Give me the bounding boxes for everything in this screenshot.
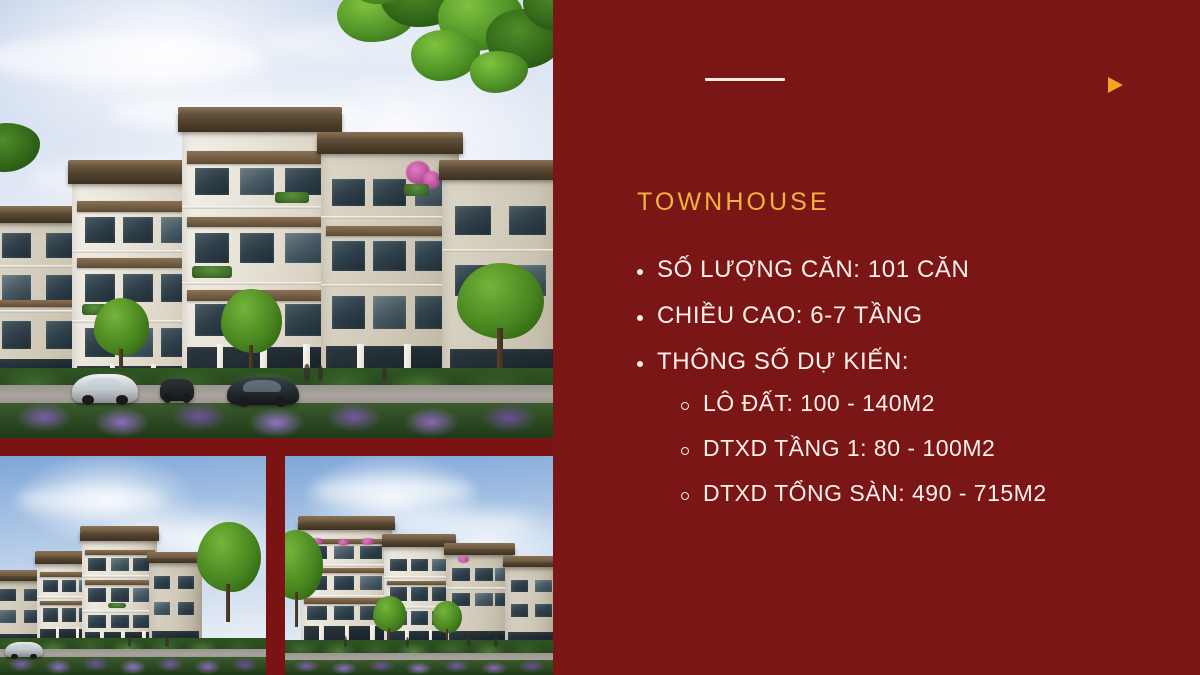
cloud xyxy=(16,487,165,513)
building-block-right xyxy=(321,149,459,399)
cloud xyxy=(312,478,473,504)
pedestrian xyxy=(304,364,310,382)
car xyxy=(5,642,42,657)
motorbike xyxy=(160,379,193,401)
gallery-gap-vertical xyxy=(266,456,285,675)
play-triangle-icon[interactable] xyxy=(1108,77,1123,93)
pedestrian xyxy=(406,637,409,647)
sub-list-item: DTXD TẦNG 1: 80 - 100M2 xyxy=(681,437,1157,460)
horizontal-rule xyxy=(705,78,785,81)
bullet-dot-icon xyxy=(637,361,643,367)
cloud xyxy=(265,22,486,61)
lavender-bed xyxy=(0,657,266,675)
specs-sublist: LÔ ĐẤT: 100 - 140M2 DTXD TẦNG 1: 80 - 10… xyxy=(681,392,1157,505)
list-item-label: SỐ LƯỢNG CĂN: 101 CĂN xyxy=(657,258,969,282)
street-tree xyxy=(197,522,261,623)
sub-list-item: DTXD TỔNG SÀN: 490 - 715M2 xyxy=(681,482,1157,505)
bullet-ring-icon xyxy=(681,492,689,500)
lavender-bed xyxy=(0,403,553,438)
car xyxy=(72,374,138,402)
pedestrian xyxy=(165,637,169,647)
building-block-main xyxy=(82,537,156,653)
street-tree xyxy=(285,530,323,626)
bullet-dot-icon xyxy=(637,315,643,321)
lavender-bed xyxy=(285,660,553,675)
content-panel: TOWNHOUSE SỐ LƯỢNG CĂN: 101 CĂN CHIỀU CA… xyxy=(553,0,1200,675)
image-gallery xyxy=(0,0,553,675)
bullet-ring-icon xyxy=(681,402,689,410)
list-item-label: THÔNG SỐ DỰ KIẾN: xyxy=(657,350,909,374)
sub-list-item-label: LÔ ĐẤT: 100 - 140M2 xyxy=(703,392,935,415)
thumb-townhouse-render-left xyxy=(0,456,266,675)
sub-list-item-label: DTXD TẦNG 1: 80 - 100M2 xyxy=(703,437,995,460)
thumb-townhouse-render-right xyxy=(285,456,553,675)
slide-root: TOWNHOUSE SỐ LƯỢNG CĂN: 101 CĂN CHIỀU CA… xyxy=(0,0,1200,675)
pedestrian xyxy=(467,636,470,647)
list-item: SỐ LƯỢNG CĂN: 101 CĂN xyxy=(637,258,1157,282)
page-title: TOWNHOUSE xyxy=(637,188,830,217)
pedestrian xyxy=(382,366,388,382)
pedestrian xyxy=(494,637,497,647)
hero-townhouse-render xyxy=(0,0,553,438)
sub-list-item: LÔ ĐẤT: 100 - 140M2 xyxy=(681,392,1157,415)
list-item-label: CHIỀU CAO: 6-7 TẦNG xyxy=(657,304,923,328)
cloud xyxy=(392,513,531,535)
list-item: CHIỀU CAO: 6-7 TẦNG xyxy=(637,304,1157,328)
car xyxy=(227,377,299,405)
bullet-dot-icon xyxy=(637,269,643,275)
bullet-ring-icon xyxy=(681,447,689,455)
sub-list-item-label: DTXD TỔNG SÀN: 490 - 715M2 xyxy=(703,482,1047,505)
list-item: THÔNG SỐ DỰ KIẾN: xyxy=(637,350,1157,374)
specs-list: SỐ LƯỢNG CĂN: 101 CĂN CHIỀU CAO: 6-7 TẦN… xyxy=(637,258,1157,527)
gallery-gap-horizontal xyxy=(0,438,553,456)
